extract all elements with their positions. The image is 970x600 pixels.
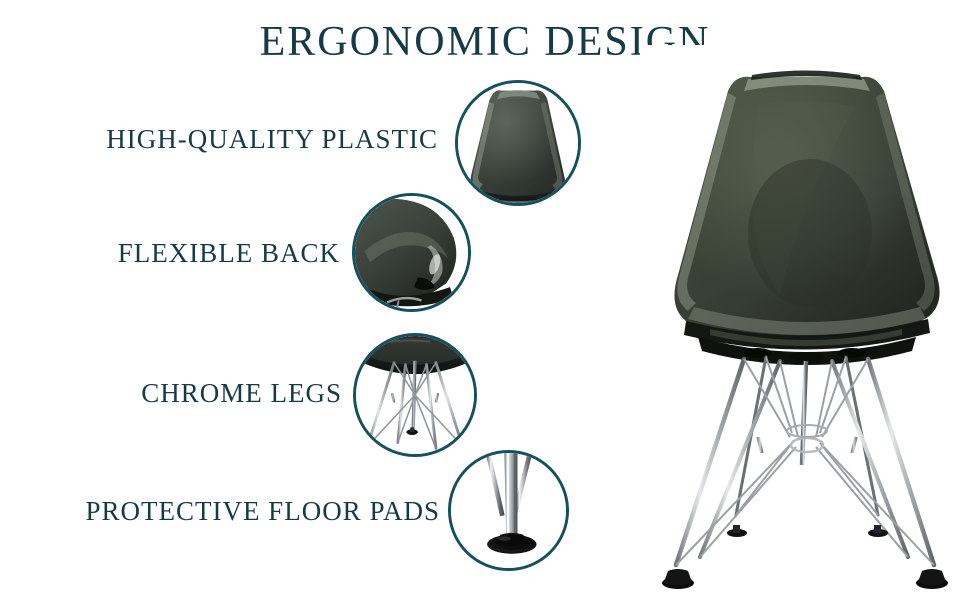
chrome-eiffel-base-photo	[356, 336, 474, 454]
callout-high-quality-plastic	[455, 80, 581, 206]
callout-protective-floor-pads	[448, 450, 569, 571]
product-infographic: ERGONOMIC DESIGN HIGH-QUALITY PLASTIC FL…	[0, 0, 970, 600]
chair-backrest-curve-photo	[355, 196, 468, 309]
callout-chrome-legs	[353, 333, 477, 457]
chair-shell-top-view-photo	[458, 83, 578, 203]
feature-label-chrome-legs: CHROME LEGS	[0, 378, 342, 409]
callout-flexible-back	[352, 193, 471, 312]
feature-label-protective-floor-pads: PROTECTIVE FLOOR PADS	[0, 496, 440, 527]
floor-pad-foot-photo	[451, 453, 566, 568]
feature-label-high-quality-plastic: HIGH-QUALITY PLASTIC	[0, 124, 438, 155]
main-product-image	[640, 45, 970, 590]
feature-label-flexible-back: FLEXIBLE BACK	[0, 238, 340, 269]
product-chair-photo	[640, 45, 970, 590]
